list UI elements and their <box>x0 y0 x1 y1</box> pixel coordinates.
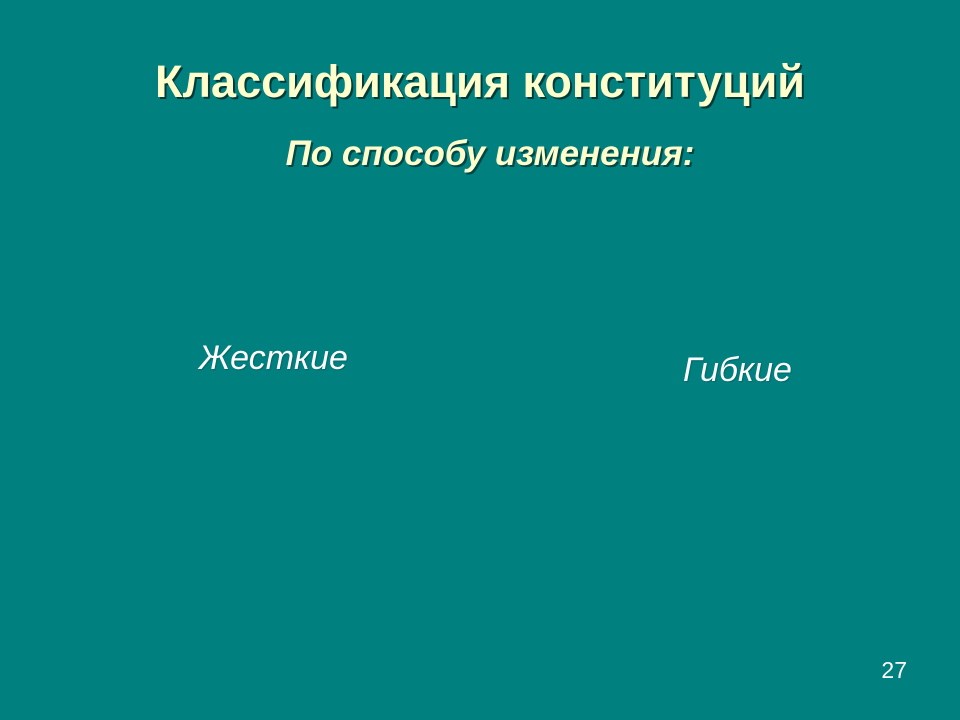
branch-label-rigid: Жесткие <box>199 340 348 377</box>
slide-page-number: 27 <box>881 659 907 682</box>
branch-label-flexible: Гибкие <box>683 352 792 389</box>
slide-subtitle: По способу изменения: <box>0 135 960 174</box>
slide-title: Классификация конституций <box>0 58 960 107</box>
slide-content-area: Жесткие Гибкие <box>0 170 960 640</box>
presentation-slide: Классификация конституций По способу изм… <box>0 0 960 720</box>
